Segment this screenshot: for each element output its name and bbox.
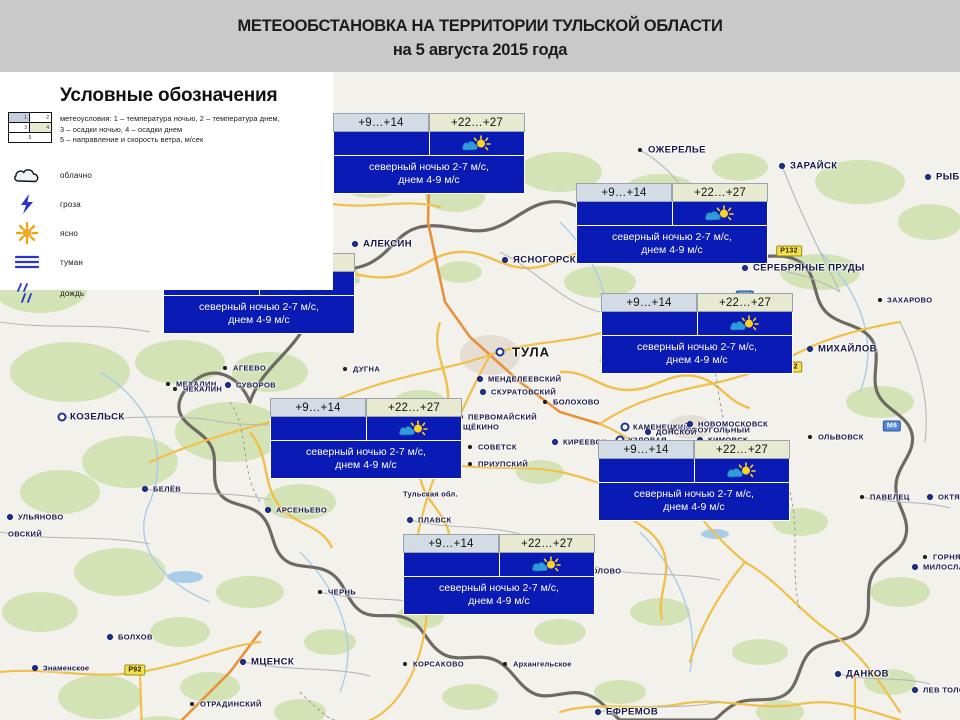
- city-dot: [225, 382, 231, 388]
- city-label: МЦЕНСК: [251, 657, 294, 668]
- wind-description: северный ночью 2-7 м/с, днем 4-9 м/с: [598, 483, 790, 521]
- city-dot: [318, 590, 322, 594]
- wind-description: северный ночью 2-7 м/с, днем 4-9 м/с: [270, 441, 462, 479]
- night-temperature: +9…+14: [270, 398, 366, 417]
- city-dot: [621, 423, 630, 432]
- city-label: КОЗЕЛЬСК: [70, 412, 125, 423]
- city-dot: [912, 687, 918, 693]
- night-precipitation: [599, 459, 694, 482]
- city-dot: [223, 366, 227, 370]
- temperature-row: +9…+14+22…+27: [598, 440, 790, 459]
- precipitation-row: [576, 202, 768, 226]
- city-dot: [7, 514, 13, 520]
- city-label: АГЕЕВО: [233, 364, 266, 373]
- rain-icon: [10, 280, 44, 306]
- night-temperature: +9…+14: [403, 534, 499, 553]
- city-label: ОТРАДИНСКИЙ: [200, 700, 262, 709]
- city-dot: [687, 421, 693, 427]
- city-dot: [468, 445, 472, 449]
- city-label: СКУРАТОВСКИЙ: [491, 388, 556, 397]
- city-dot: [58, 413, 67, 422]
- day-temperature: +22…+27: [499, 534, 595, 553]
- city-dot: [496, 348, 505, 357]
- city-label: ЧЕРНЬ: [328, 588, 356, 597]
- city-dot: [343, 367, 347, 371]
- wind-description: северный ночью 2-7 м/с, днем 4-9 м/с: [601, 336, 793, 374]
- city-dot: [166, 382, 170, 386]
- night-temperature: +9…+14: [601, 293, 697, 312]
- city-label: АЛЕКСИН: [363, 239, 412, 250]
- page-subtitle: на 5 августа 2015 года: [0, 41, 960, 60]
- city-label: АРСЕНЬЕВО: [276, 506, 327, 515]
- city-dot: [645, 429, 651, 435]
- city-dot: [543, 400, 547, 404]
- city-label: ПЛАВСК: [418, 516, 452, 525]
- city-label: ДУГНА: [353, 365, 380, 374]
- precipitation-row: [270, 417, 462, 441]
- city-label: МИЛОСЛАВСКОЕ: [923, 563, 960, 572]
- city-label: НОВОМОСКОВСК: [698, 420, 768, 429]
- city-dot: [173, 387, 177, 391]
- road-shield: М6: [883, 421, 901, 432]
- city-label: КОРСАКОВО: [413, 660, 464, 669]
- city-dot: [240, 659, 246, 665]
- city-dot: [190, 702, 194, 706]
- city-dot: [503, 662, 507, 666]
- city-dot: [860, 495, 864, 499]
- city-label: БОЛОХОВО: [553, 398, 600, 407]
- legend-item-облачно: облачно: [0, 162, 333, 188]
- city-dot: [595, 709, 601, 715]
- lightning-icon: [10, 191, 44, 217]
- city-dot: [779, 163, 785, 169]
- wind-description: северный ночью 2-7 м/с, днем 4-9 м/с: [403, 577, 595, 615]
- city-dot: [502, 257, 508, 263]
- legend-description: метеоусловия: 1 – температура ночью, 2 –…: [60, 114, 328, 146]
- city-dot: [32, 665, 38, 671]
- day-temperature: +22…+27: [672, 183, 768, 202]
- city-label: ТУЛА: [512, 345, 550, 360]
- city-dot: [552, 439, 558, 445]
- legend-item-туман: туман: [0, 249, 333, 275]
- city-label: ПРИУПСКИЙ: [478, 460, 528, 469]
- page-title: МЕТЕООБСТАНОВКА НА ТЕРРИТОРИИ ТУЛЬСКОЙ О…: [0, 16, 960, 37]
- city-label: ПАВЕЛЕЦ: [870, 493, 910, 502]
- wind-description: северный ночью 2-7 м/с, днем 4-9 м/с: [333, 156, 525, 194]
- temperature-row: +9…+14+22…+27: [333, 113, 525, 132]
- legend-item-label: ясно: [60, 220, 78, 246]
- night-precipitation: [334, 132, 429, 155]
- legend-item-label: облачно: [60, 162, 92, 188]
- day-temperature: +22…+27: [694, 440, 790, 459]
- city-dot: [142, 486, 148, 492]
- city-dot: [835, 671, 841, 677]
- fog-icon: [10, 249, 44, 275]
- city-label: ОВСКИЙ: [8, 530, 42, 539]
- city-label: ЩЁКИНО: [463, 423, 499, 432]
- night-temperature: +9…+14: [598, 440, 694, 459]
- city-dot: [480, 389, 486, 395]
- city-dot: [638, 148, 642, 152]
- city-label: РЫБНОЕ: [936, 172, 960, 183]
- city-label: ОКТЯБРЬСКИЙ: [938, 493, 960, 502]
- city-label: МЕНДЕЛЕЕВСКИЙ: [488, 375, 561, 384]
- box-volovo[interactable]: +9…+14+22…+27северный ночью 2-7 м/с, дне…: [598, 440, 790, 521]
- city-dot: [925, 174, 931, 180]
- city-label: ОЛЬВОВСК: [818, 433, 864, 442]
- legend-schema-grid: 1 2 3 4 5: [8, 112, 52, 146]
- city-label: СОВЕТСК: [478, 443, 517, 452]
- cloud-icon: [10, 162, 44, 188]
- legend-item-дождь: дождь: [0, 280, 333, 306]
- city-label: ДОНСКОЙ: [656, 428, 697, 437]
- road-shield: Р92: [124, 665, 145, 676]
- day-temperature: +22…+27: [697, 293, 793, 312]
- precipitation-row: [601, 312, 793, 336]
- city-dot: [265, 507, 271, 513]
- city-dot: [808, 435, 812, 439]
- sun-behind-cloud-icon: [672, 202, 768, 225]
- legend-item-label: туман: [60, 249, 83, 275]
- city-label: Тульская обл.: [403, 490, 458, 499]
- city-dot: [927, 494, 933, 500]
- city-dot: [923, 555, 927, 559]
- night-precipitation: [577, 202, 672, 225]
- city-label: Архангельское: [513, 660, 572, 669]
- night-precipitation: [404, 553, 499, 576]
- night-precipitation: [271, 417, 366, 440]
- sun-icon: [10, 220, 44, 246]
- city-dot: [403, 662, 407, 666]
- sun-behind-cloud-icon: [694, 459, 790, 482]
- city-dot: [468, 462, 472, 466]
- box-alexin[interactable]: +9…+14+22…+27северный ночью 2-7 м/с, дне…: [333, 113, 525, 194]
- sun-behind-cloud-icon: [499, 553, 595, 576]
- box-venev[interactable]: +9…+14+22…+27северный ночью 2-7 м/с, дне…: [576, 183, 768, 264]
- legend-panel: Условные обозначения метеоусловия: 1 – т…: [0, 72, 333, 290]
- temperature-row: +9…+14+22…+27: [403, 534, 595, 553]
- legend-cell-5: 5: [8, 132, 52, 143]
- city-label: ЗАРАЙСК: [790, 161, 837, 172]
- day-temperature: +22…+27: [366, 398, 462, 417]
- legend-item-label: дождь: [60, 280, 84, 306]
- road-shield: Р132: [776, 246, 802, 257]
- city-dot: [352, 241, 358, 247]
- sun-behind-cloud-icon: [697, 312, 793, 335]
- temperature-row: +9…+14+22…+27: [601, 293, 793, 312]
- sun-behind-cloud-icon: [429, 132, 525, 155]
- night-temperature: +9…+14: [333, 113, 429, 132]
- day-temperature: +22…+27: [429, 113, 525, 132]
- city-label: СЕРЕБРЯНЫЕ ПРУДЫ: [753, 263, 865, 274]
- city-label: СУВОРОВ: [236, 381, 276, 390]
- city-label: БЕЛЁВ: [153, 485, 181, 494]
- sun-behind-cloud-icon: [366, 417, 462, 440]
- city-label: БОЛХОВ: [118, 633, 153, 642]
- city-label: ЧЕКАЛИН: [183, 385, 222, 394]
- city-dot: [807, 346, 813, 352]
- city-label: Знаменское: [43, 664, 89, 673]
- city-dot: [107, 634, 113, 640]
- box-efremov[interactable]: +9…+14+22…+27северный ночью 2-7 м/с, дне…: [403, 534, 595, 615]
- city-label: ПЕРВОМАЙСКИЙ: [468, 413, 537, 422]
- city-dot: [742, 265, 748, 271]
- city-dot: [878, 298, 882, 302]
- city-label: ЛЕВ ТОЛСТОЙ: [923, 686, 960, 695]
- precipitation-row: [333, 132, 525, 156]
- box-novomoskovsk[interactable]: +9…+14+22…+27северный ночью 2-7 м/с, дне…: [601, 293, 793, 374]
- city-label: ЕФРЕМОВ: [606, 707, 658, 718]
- city-label: ЗАХАРОВО: [887, 296, 933, 305]
- city-dot: [912, 564, 918, 570]
- temperature-row: +9…+14+22…+27: [270, 398, 462, 417]
- city-dot: [477, 376, 483, 382]
- city-label: ДАНКОВ: [846, 669, 889, 680]
- temperature-row: +9…+14+22…+27: [576, 183, 768, 202]
- legend-item-label: гроза: [60, 191, 81, 217]
- legend-item-ясно: ясно: [0, 220, 333, 246]
- night-precipitation: [602, 312, 697, 335]
- legend-item-гроза: гроза: [0, 191, 333, 217]
- city-label: МИХАЙЛОВ: [818, 344, 877, 355]
- precipitation-row: [598, 459, 790, 483]
- city-label: ЯСНОГОРСК: [513, 255, 576, 266]
- city-dot: [407, 517, 413, 523]
- legend-title: Условные обозначения: [60, 85, 277, 107]
- precipitation-row: [403, 553, 595, 577]
- city-label: УЛЬЯНОВО: [18, 513, 64, 522]
- city-label: ГОРНЯК: [933, 553, 960, 562]
- box-plavsk[interactable]: +9…+14+22…+27северный ночью 2-7 м/с, дне…: [270, 398, 462, 479]
- city-label: ОЖЕРЕЛЬЕ: [648, 145, 706, 156]
- wind-description: северный ночью 2-7 м/с, днем 4-9 м/с: [576, 226, 768, 264]
- page-header: МЕТЕООБСТАНОВКА НА ТЕРРИТОРИИ ТУЛЬСКОЙ О…: [0, 0, 960, 72]
- night-temperature: +9…+14: [576, 183, 672, 202]
